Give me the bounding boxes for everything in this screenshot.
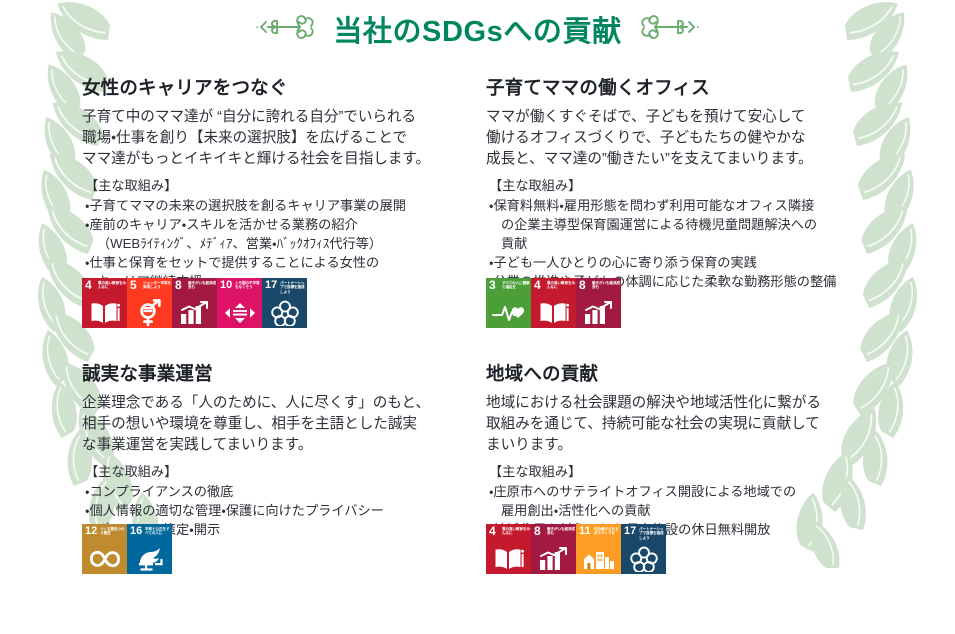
sdg-goal-caption: 住み続けられるまちづくりを	[594, 527, 620, 536]
lead-line: 企業理念である「人のために、人に尽くす」のもと、	[82, 393, 486, 414]
sdg-goal-17-glyph	[621, 545, 666, 572]
lead-line: ママが働くすぐそばで、子どもを預けて安心して	[486, 107, 890, 128]
scroll-flourish-right-icon	[640, 12, 700, 47]
sdg-goal-16-icon: 16平和と公正をすべての人に	[127, 524, 172, 574]
sdg-goal-caption: 人や国の不平等をなくそう	[235, 281, 261, 290]
sdg-goal-caption: パートナーシップで目標を達成しよう	[280, 281, 306, 295]
sdg-goal-4-icon: 4質の高い教育をみんなに	[82, 278, 127, 328]
section-title: 地域への貢献	[486, 360, 890, 386]
section-lead: 地域における社会課題の解決や地域活性化に繋がる 取組みを通じて、持続可能な社会の…	[486, 393, 890, 456]
sdg-goal-8-glyph	[576, 299, 621, 326]
sdg-goal-12-glyph	[82, 545, 127, 572]
lead-line: 職場・仕事を創り【未来の選択肢】を広げることで	[82, 128, 486, 149]
sdg-goal-number: 5	[130, 279, 137, 291]
works-cont: の企業主導型保育園運営による待機児童問題解決への	[489, 215, 890, 234]
sdg-goal-17-icon: 17パートナーシップで目標を達成しよう	[262, 278, 307, 328]
works-cont2: 貢献	[489, 234, 890, 253]
sdg-goal-caption: 質の高い教育をみんなに	[547, 281, 575, 290]
sdg-goal-number: 10	[220, 279, 232, 291]
works-heading: 【主な取組み】	[489, 463, 890, 482]
lead-line: 地域における社会課題の解決や地域活性化に繋がる	[486, 393, 890, 414]
scroll-flourish-left-icon	[255, 12, 315, 47]
sdg-goal-caption: 働きがいも経済成長も	[547, 527, 575, 536]
section-lead: 子育て中のママ達が “自分に誇れる自分”でいられる 職場・仕事を創り【未来の選択…	[82, 107, 486, 170]
sdg-goal-4-glyph	[531, 299, 576, 326]
works-main: ・産前のキャリア・スキルを活かせる業務の紹介	[85, 217, 358, 232]
sdg-goal-number: 17	[624, 525, 636, 537]
sdg-goal-number: 4	[85, 279, 92, 291]
sdg-goal-caption: 働きがいも経済成長も	[188, 281, 216, 290]
sdg-goal-caption: つくる責任つかう責任	[100, 527, 126, 536]
works-main: ・仕事と保育をセットで提供することによる女性の	[85, 255, 379, 270]
sdg-goal-4-glyph	[486, 545, 531, 572]
sdg-goal-caption: 質の高い教育をみんなに	[98, 281, 126, 290]
list-item: ・産前のキャリア・スキルを活かせる業務の紹介（WEBﾗｲﾃｨﾝｸﾞ、ﾒﾃﾞｨｱ、…	[85, 215, 486, 253]
sdg-goal-17-glyph	[262, 299, 307, 326]
sdg-goal-8-icon: 8働きがいも経済成長も	[172, 278, 217, 328]
section-mom-office: 子育てママの働くオフィス ママが働くすぐそばで、子どもを預けて安心して 働けるオ…	[486, 74, 890, 352]
lead-line: まいります。	[486, 435, 890, 456]
page-header: 当社のSDGsへの貢献	[0, 8, 955, 50]
lead-line: 取組みを通じて、持続可能な社会の実現に貢献して	[486, 414, 890, 435]
sdg-goal-number: 16	[130, 525, 142, 537]
sdg-goal-caption: 働きがいも経済成長も	[592, 281, 620, 290]
section-title: 子育てママの働くオフィス	[486, 74, 890, 100]
sdg-goal-caption: パートナーシップで目標を達成しよう	[639, 527, 665, 541]
sdg-goal-caption: 平和と公正をすべての人に	[145, 527, 171, 536]
sdg-goal-8-icon: 8働きがいも経済成長も	[531, 524, 576, 574]
works-main: ・保育料無料・雇用形態を問わず利用可能なオフィス隣接	[489, 198, 814, 213]
section-title: 女性のキャリアをつなぐ	[82, 74, 486, 100]
section-lead: ママが働くすぐそばで、子どもを預けて安心して 働けるオフィスづくりで、子どもたち…	[486, 107, 890, 170]
works-main: ・子育てママの未来の選択肢を創るキャリア事業の展開	[85, 198, 406, 213]
sdg-goal-number: 17	[265, 279, 277, 291]
sdg-goal-number: 4	[489, 525, 496, 537]
sdg-goal-number: 3	[489, 279, 496, 291]
sdg-goal-10-icon: 10人や国の不平等をなくそう	[217, 278, 262, 328]
sdg-icon-row: 3すべての人に健康と福祉を4質の高い教育をみんなに8働きがいも経済成長も	[486, 278, 621, 328]
section-women-career: 女性のキャリアをつなぐ 子育て中のママ達が “自分に誇れる自分”でいられる 職場…	[82, 74, 486, 352]
sdg-goal-caption: 質の高い教育をみんなに	[502, 527, 530, 536]
lead-line: な事業運営を実践してまいります。	[82, 435, 486, 456]
sdg-goal-11-icon: 11住み続けられるまちづくりを	[576, 524, 621, 574]
sdg-goal-8-glyph	[531, 545, 576, 572]
section-title: 誠実な事業運営	[82, 360, 486, 386]
sdg-goal-number: 11	[579, 525, 591, 537]
sdg-goal-number: 8	[534, 525, 541, 537]
sdg-goal-4-glyph	[82, 299, 127, 326]
sdg-goal-10-glyph	[217, 299, 262, 326]
works-main: ・コンプライアンスの徹底	[85, 484, 233, 499]
sdg-goal-5-glyph	[127, 299, 172, 326]
lead-line: 子育て中のママ達が “自分に誇れる自分”でいられる	[82, 107, 486, 128]
sections-grid: 女性のキャリアをつなぐ 子育て中のママ達が “自分に誇れる自分”でいられる 職場…	[0, 74, 955, 634]
sdg-goal-number: 4	[534, 279, 541, 291]
sdg-goal-16-glyph	[127, 545, 172, 572]
works-cont: 雇用創出・活性化への貢献	[489, 501, 890, 520]
sdg-goal-caption: すべての人に健康と福祉を	[502, 281, 530, 290]
works-main: ・子ども一人ひとりの心に寄り添う保育の実践	[489, 255, 757, 270]
works-cont: （WEBﾗｲﾃｨﾝｸﾞ、ﾒﾃﾞｨｱ、営業・ﾊﾞｯｸｵﾌｨｽ代行等）	[85, 234, 486, 253]
sdg-icon-row: 4質の高い教育をみんなに5ジェンダー平等を実現しよう8働きがいも経済成長も10人…	[82, 278, 307, 328]
lead-line: 相手の想いや環境を尊重し、相手を主語とした誠実	[82, 414, 486, 435]
sdg-goal-number: 12	[85, 525, 97, 537]
section-sincere-management: 誠実な事業運営 企業理念である「人のために、人に尽くす」のもと、 相手の想いや環…	[82, 352, 486, 630]
sdg-goal-11-glyph	[576, 545, 621, 572]
list-item: ・保育料無料・雇用形態を問わず利用可能なオフィス隣接の企業主導型保育園運営による…	[489, 196, 890, 253]
sdg-goal-caption: ジェンダー平等を実現しよう	[143, 281, 171, 290]
sdg-icon-row: 12つくる責任つかう責任16平和と公正をすべての人に	[82, 524, 172, 574]
works-main: ・個人情報の適切な管理・保護に向けたプライバシー	[85, 503, 384, 518]
list-item: ・庄原市へのサテライトオフィス開設による地域での雇用創出・活性化への貢献	[489, 482, 890, 520]
works-heading: 【主な取組み】	[85, 177, 486, 196]
sdg-goal-8-icon: 8働きがいも経済成長も	[576, 278, 621, 328]
list-item: ・子ども一人ひとりの心に寄り添う保育の実践	[489, 253, 890, 272]
lead-line: 働けるオフィスづくりで、子どもたちの健やかな	[486, 128, 890, 149]
works-main: ・庄原市へのサテライトオフィス開設による地域での	[489, 484, 796, 499]
lead-line: ママ達がもっとイキイキと輝ける社会を目指します。	[82, 149, 486, 170]
sdg-goal-3-glyph	[486, 299, 531, 326]
sdg-goal-5-icon: 5ジェンダー平等を実現しよう	[127, 278, 172, 328]
list-item: ・コンプライアンスの徹底	[85, 482, 486, 501]
sdg-icon-row: 4質の高い教育をみんなに8働きがいも経済成長も11住み続けられるまちづくりを17…	[486, 524, 666, 574]
sdg-goal-3-icon: 3すべての人に健康と福祉を	[486, 278, 531, 328]
sdg-goal-4-icon: 4質の高い教育をみんなに	[531, 278, 576, 328]
sdg-goal-4-icon: 4質の高い教育をみんなに	[486, 524, 531, 574]
works-heading: 【主な取組み】	[489, 177, 890, 196]
section-lead: 企業理念である「人のために、人に尽くす」のもと、 相手の想いや環境を尊重し、相手…	[82, 393, 486, 456]
section-community-contribution: 地域への貢献 地域における社会課題の解決や地域活性化に繋がる 取組みを通じて、持…	[486, 352, 890, 630]
sdg-goal-number: 8	[175, 279, 182, 291]
page-title: 当社のSDGsへの貢献	[333, 8, 621, 50]
lead-line: 成長と、ママ達の”働きたい”を支えてまいります。	[486, 149, 890, 170]
sdg-goal-8-glyph	[172, 299, 217, 326]
sdg-goal-17-icon: 17パートナーシップで目標を達成しよう	[621, 524, 666, 574]
sdg-goal-number: 8	[579, 279, 586, 291]
list-item: ・子育てママの未来の選択肢を創るキャリア事業の展開	[85, 196, 486, 215]
sdg-goal-12-icon: 12つくる責任つかう責任	[82, 524, 127, 574]
works-heading: 【主な取組み】	[85, 463, 486, 482]
